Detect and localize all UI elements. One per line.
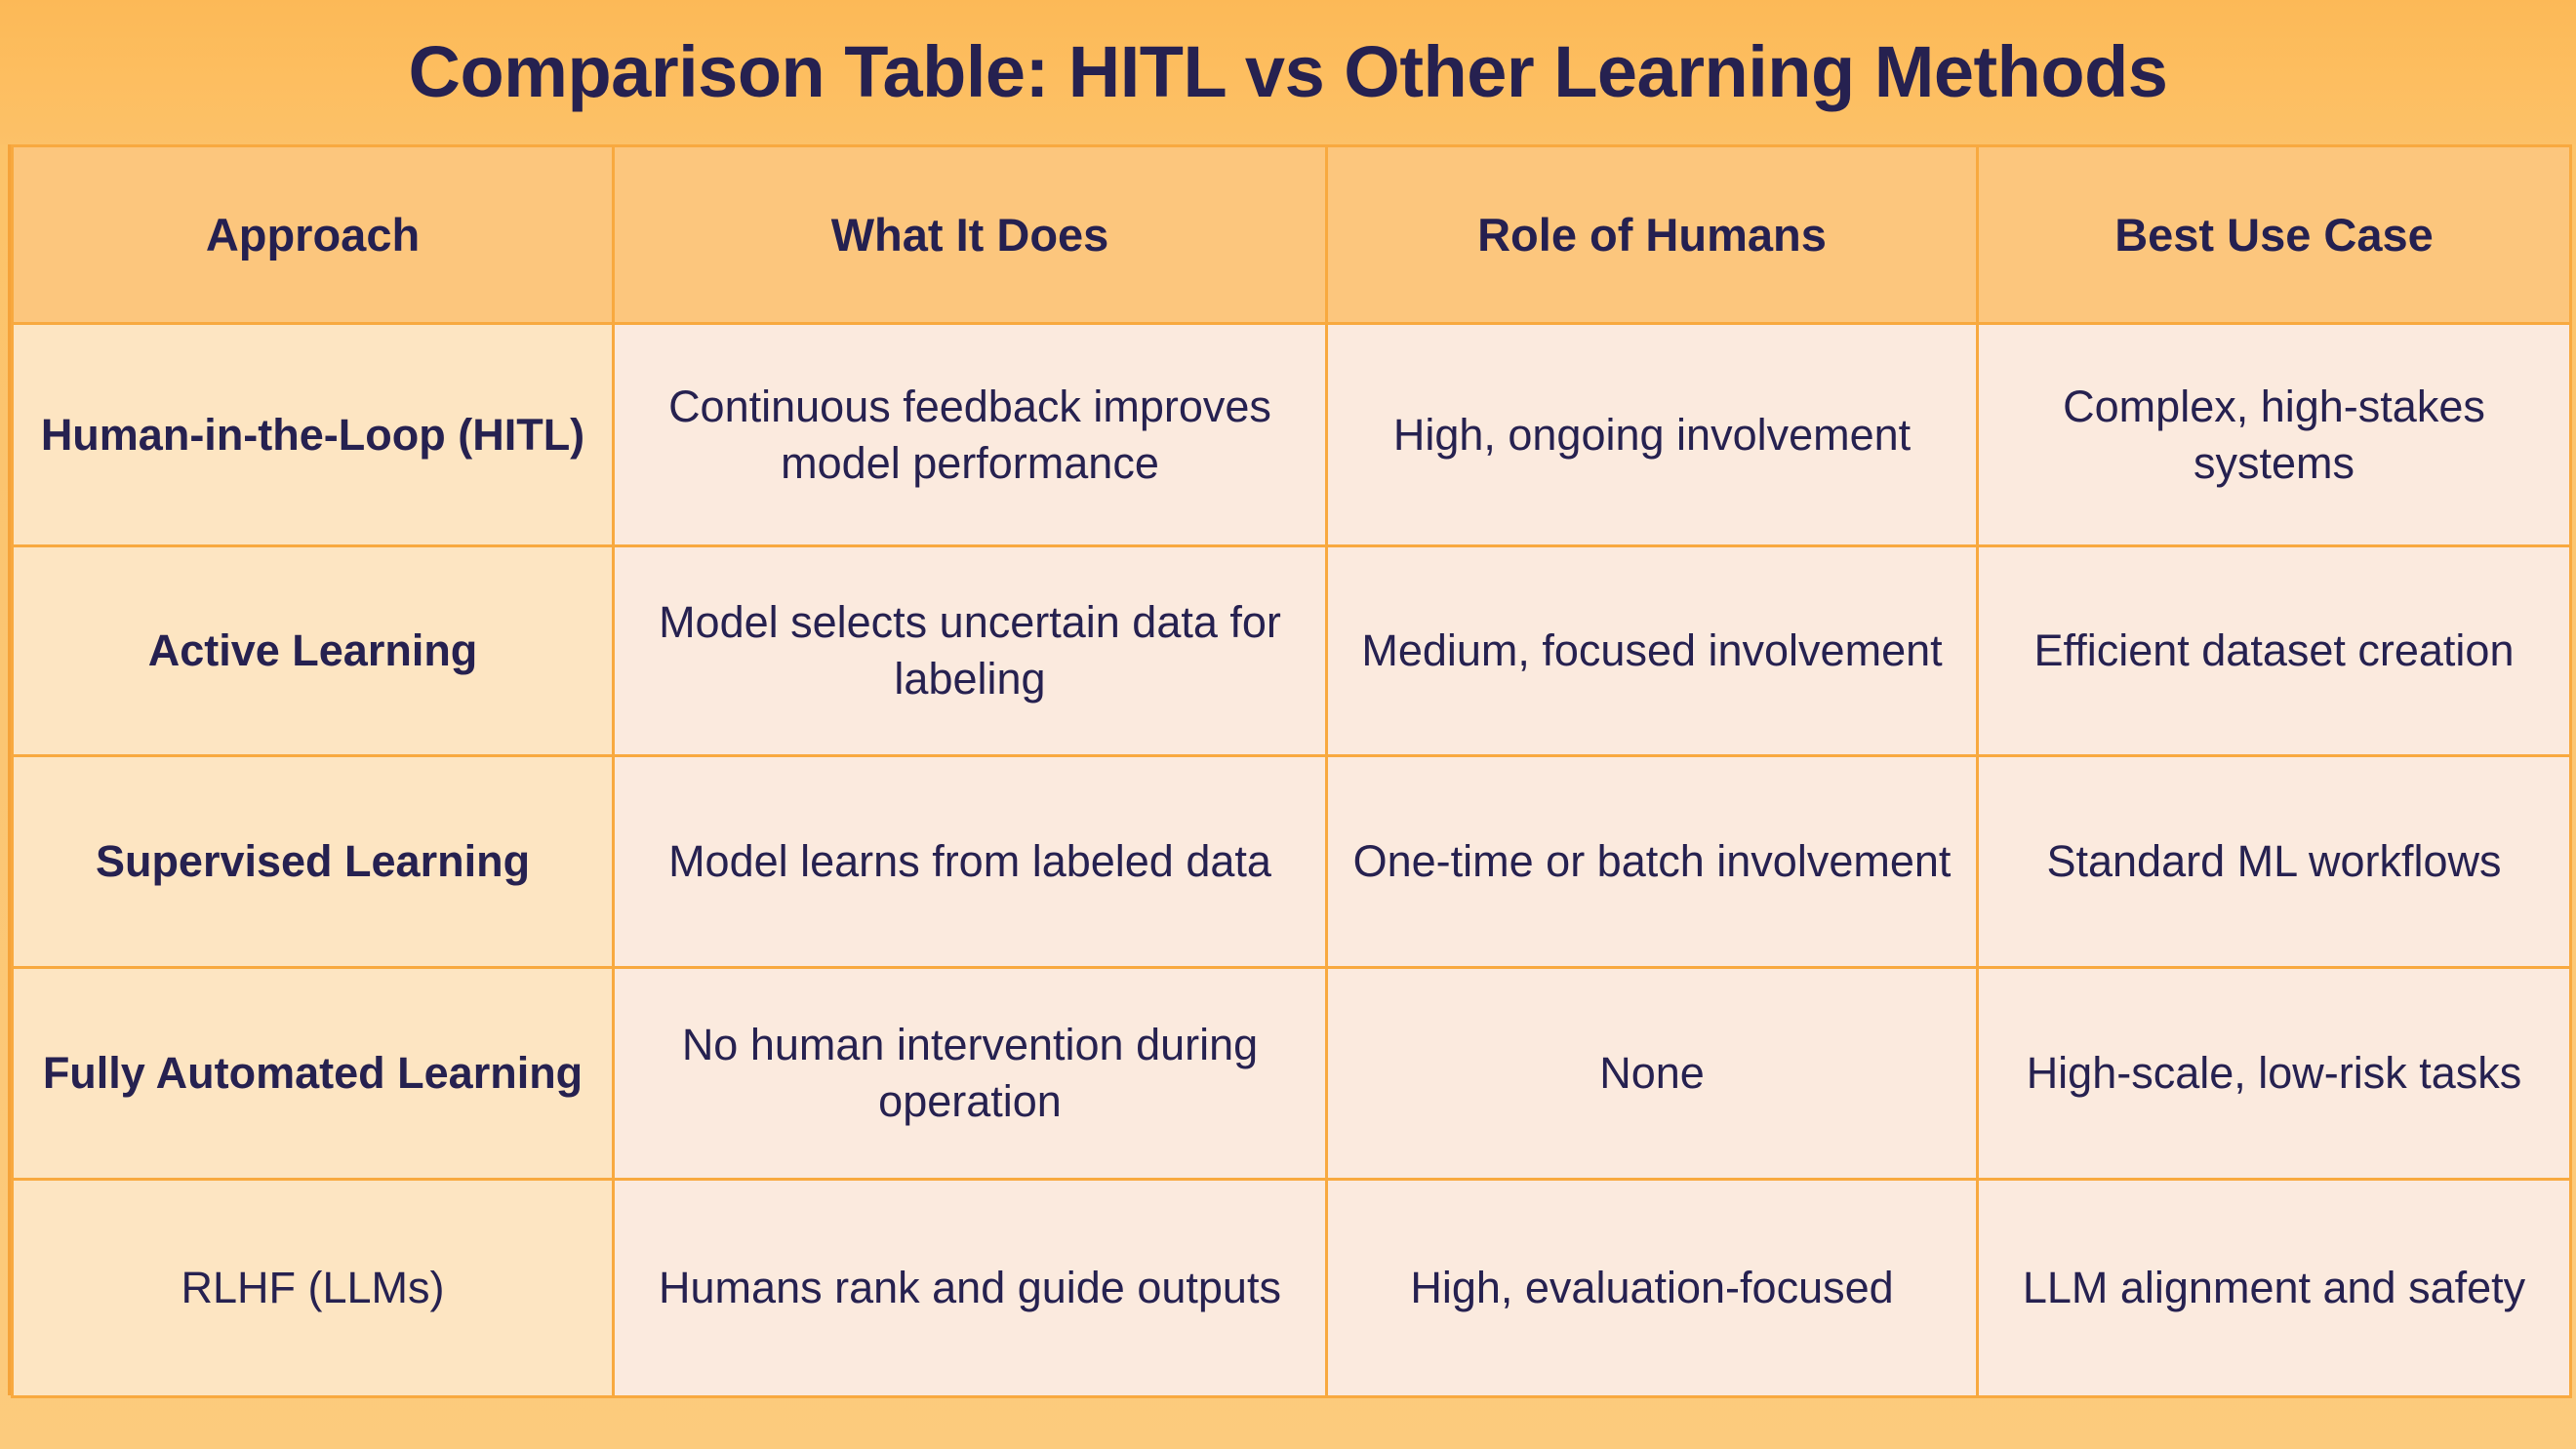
table-header-row: Approach What It Does Role of Humans Bes… [13,146,2571,324]
title-banner: Comparison Table: HITL vs Other Learning… [0,0,2576,144]
table-row: RLHF (LLMs) Humans rank and guide output… [13,1180,2571,1397]
comparison-table-container: Approach What It Does Role of Humans Bes… [8,144,2566,1395]
cell-role-of-humans: High, evaluation-focused [1327,1180,1978,1397]
column-header-approach: Approach [13,146,614,324]
cell-best-use-case: Efficient dataset creation [1978,546,2571,756]
table-body: Human-in-the-Loop (HITL) Continuous feed… [13,324,2571,1397]
cell-role-of-humans: Medium, focused involvement [1327,546,1978,756]
cell-approach: Supervised Learning [13,756,614,968]
column-header-best-use-case: Best Use Case [1978,146,2571,324]
cell-approach: Fully Automated Learning [13,968,614,1180]
cell-best-use-case: Standard ML workflows [1978,756,2571,968]
table-row: Active Learning Model selects uncertain … [13,546,2571,756]
column-header-what-it-does: What It Does [614,146,1327,324]
table-header: Approach What It Does Role of Humans Bes… [13,146,2571,324]
cell-role-of-humans: None [1327,968,1978,1180]
table-row: Human-in-the-Loop (HITL) Continuous feed… [13,324,2571,546]
cell-role-of-humans: High, ongoing involvement [1327,324,1978,546]
comparison-table: Approach What It Does Role of Humans Bes… [11,144,2572,1398]
cell-approach: Active Learning [13,546,614,756]
cell-best-use-case: High-scale, low-risk tasks [1978,968,2571,1180]
column-header-role-of-humans: Role of Humans [1327,146,1978,324]
cell-approach: Human-in-the-Loop (HITL) [13,324,614,546]
cell-approach: RLHF (LLMs) [13,1180,614,1397]
cell-what-it-does: Model selects uncertain data for labelin… [614,546,1327,756]
cell-role-of-humans: One-time or batch involvement [1327,756,1978,968]
cell-what-it-does: Continuous feedback improves model perfo… [614,324,1327,546]
table-row: Supervised Learning Model learns from la… [13,756,2571,968]
cell-best-use-case: Complex, high-stakes systems [1978,324,2571,546]
cell-what-it-does: No human intervention during operation [614,968,1327,1180]
page-title: Comparison Table: HITL vs Other Learning… [409,36,2168,108]
table-row: Fully Automated Learning No human interv… [13,968,2571,1180]
cell-best-use-case: LLM alignment and safety [1978,1180,2571,1397]
cell-what-it-does: Model learns from labeled data [614,756,1327,968]
comparison-table-page: Comparison Table: HITL vs Other Learning… [0,0,2576,1449]
cell-what-it-does: Humans rank and guide outputs [614,1180,1327,1397]
